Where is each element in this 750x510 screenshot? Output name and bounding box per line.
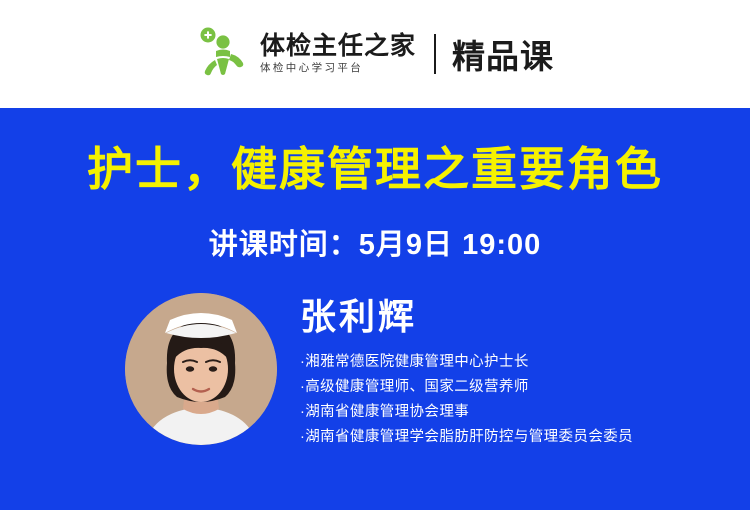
poster-body: 护士，健康管理之重要角色 讲课时间：5月9日 19:00: [0, 108, 750, 510]
lecture-time: 讲课时间：5月9日 19:00: [0, 221, 750, 263]
brand-subtitle: 体检中心学习平台: [260, 60, 416, 77]
credential-item: ·湖南省健康管理协会理事: [300, 400, 725, 425]
page-title: 护士，健康管理之重要角色: [0, 133, 750, 199]
brand-tag: 精品课: [452, 30, 554, 78]
speaker-credentials: ·湘雅常德医院健康管理中心护士长 ·高级健康管理师、国家二级营养师 ·湖南省健康…: [300, 350, 725, 450]
credential-item: ·湘雅常德医院健康管理中心护士长: [300, 350, 725, 375]
poster-header: 体检主任之家 体检中心学习平台 精品课: [0, 0, 750, 108]
speaker-name: 张利辉: [300, 295, 725, 339]
speaker-block: 张利辉 ·湘雅常德医院健康管理中心护士长 ·高级健康管理师、国家二级营养师 ·湖…: [125, 293, 725, 478]
health-checkup-logo-icon: [196, 26, 252, 82]
avatar: [125, 293, 277, 445]
credential-item: ·湖南省健康管理学会脂肪肝防控与管理委员会委员: [300, 425, 725, 450]
brand-lockup: 体检主任之家 体检中心学习平台 精品课: [196, 23, 554, 85]
brand-name: 体检主任之家: [260, 33, 416, 60]
credential-item: ·高级健康管理师、国家二级营养师: [300, 375, 725, 400]
brand-text-block: 体检主任之家 体检中心学习平台: [260, 26, 416, 82]
vertical-divider: [434, 34, 436, 74]
speaker-info: 张利辉 ·湘雅常德医院健康管理中心护士长 ·高级健康管理师、国家二级营养师 ·湖…: [300, 295, 725, 450]
course-poster: 体检主任之家 体检中心学习平台 精品课 护士，健康管理之重要角色 讲课时间：5月…: [0, 0, 750, 510]
